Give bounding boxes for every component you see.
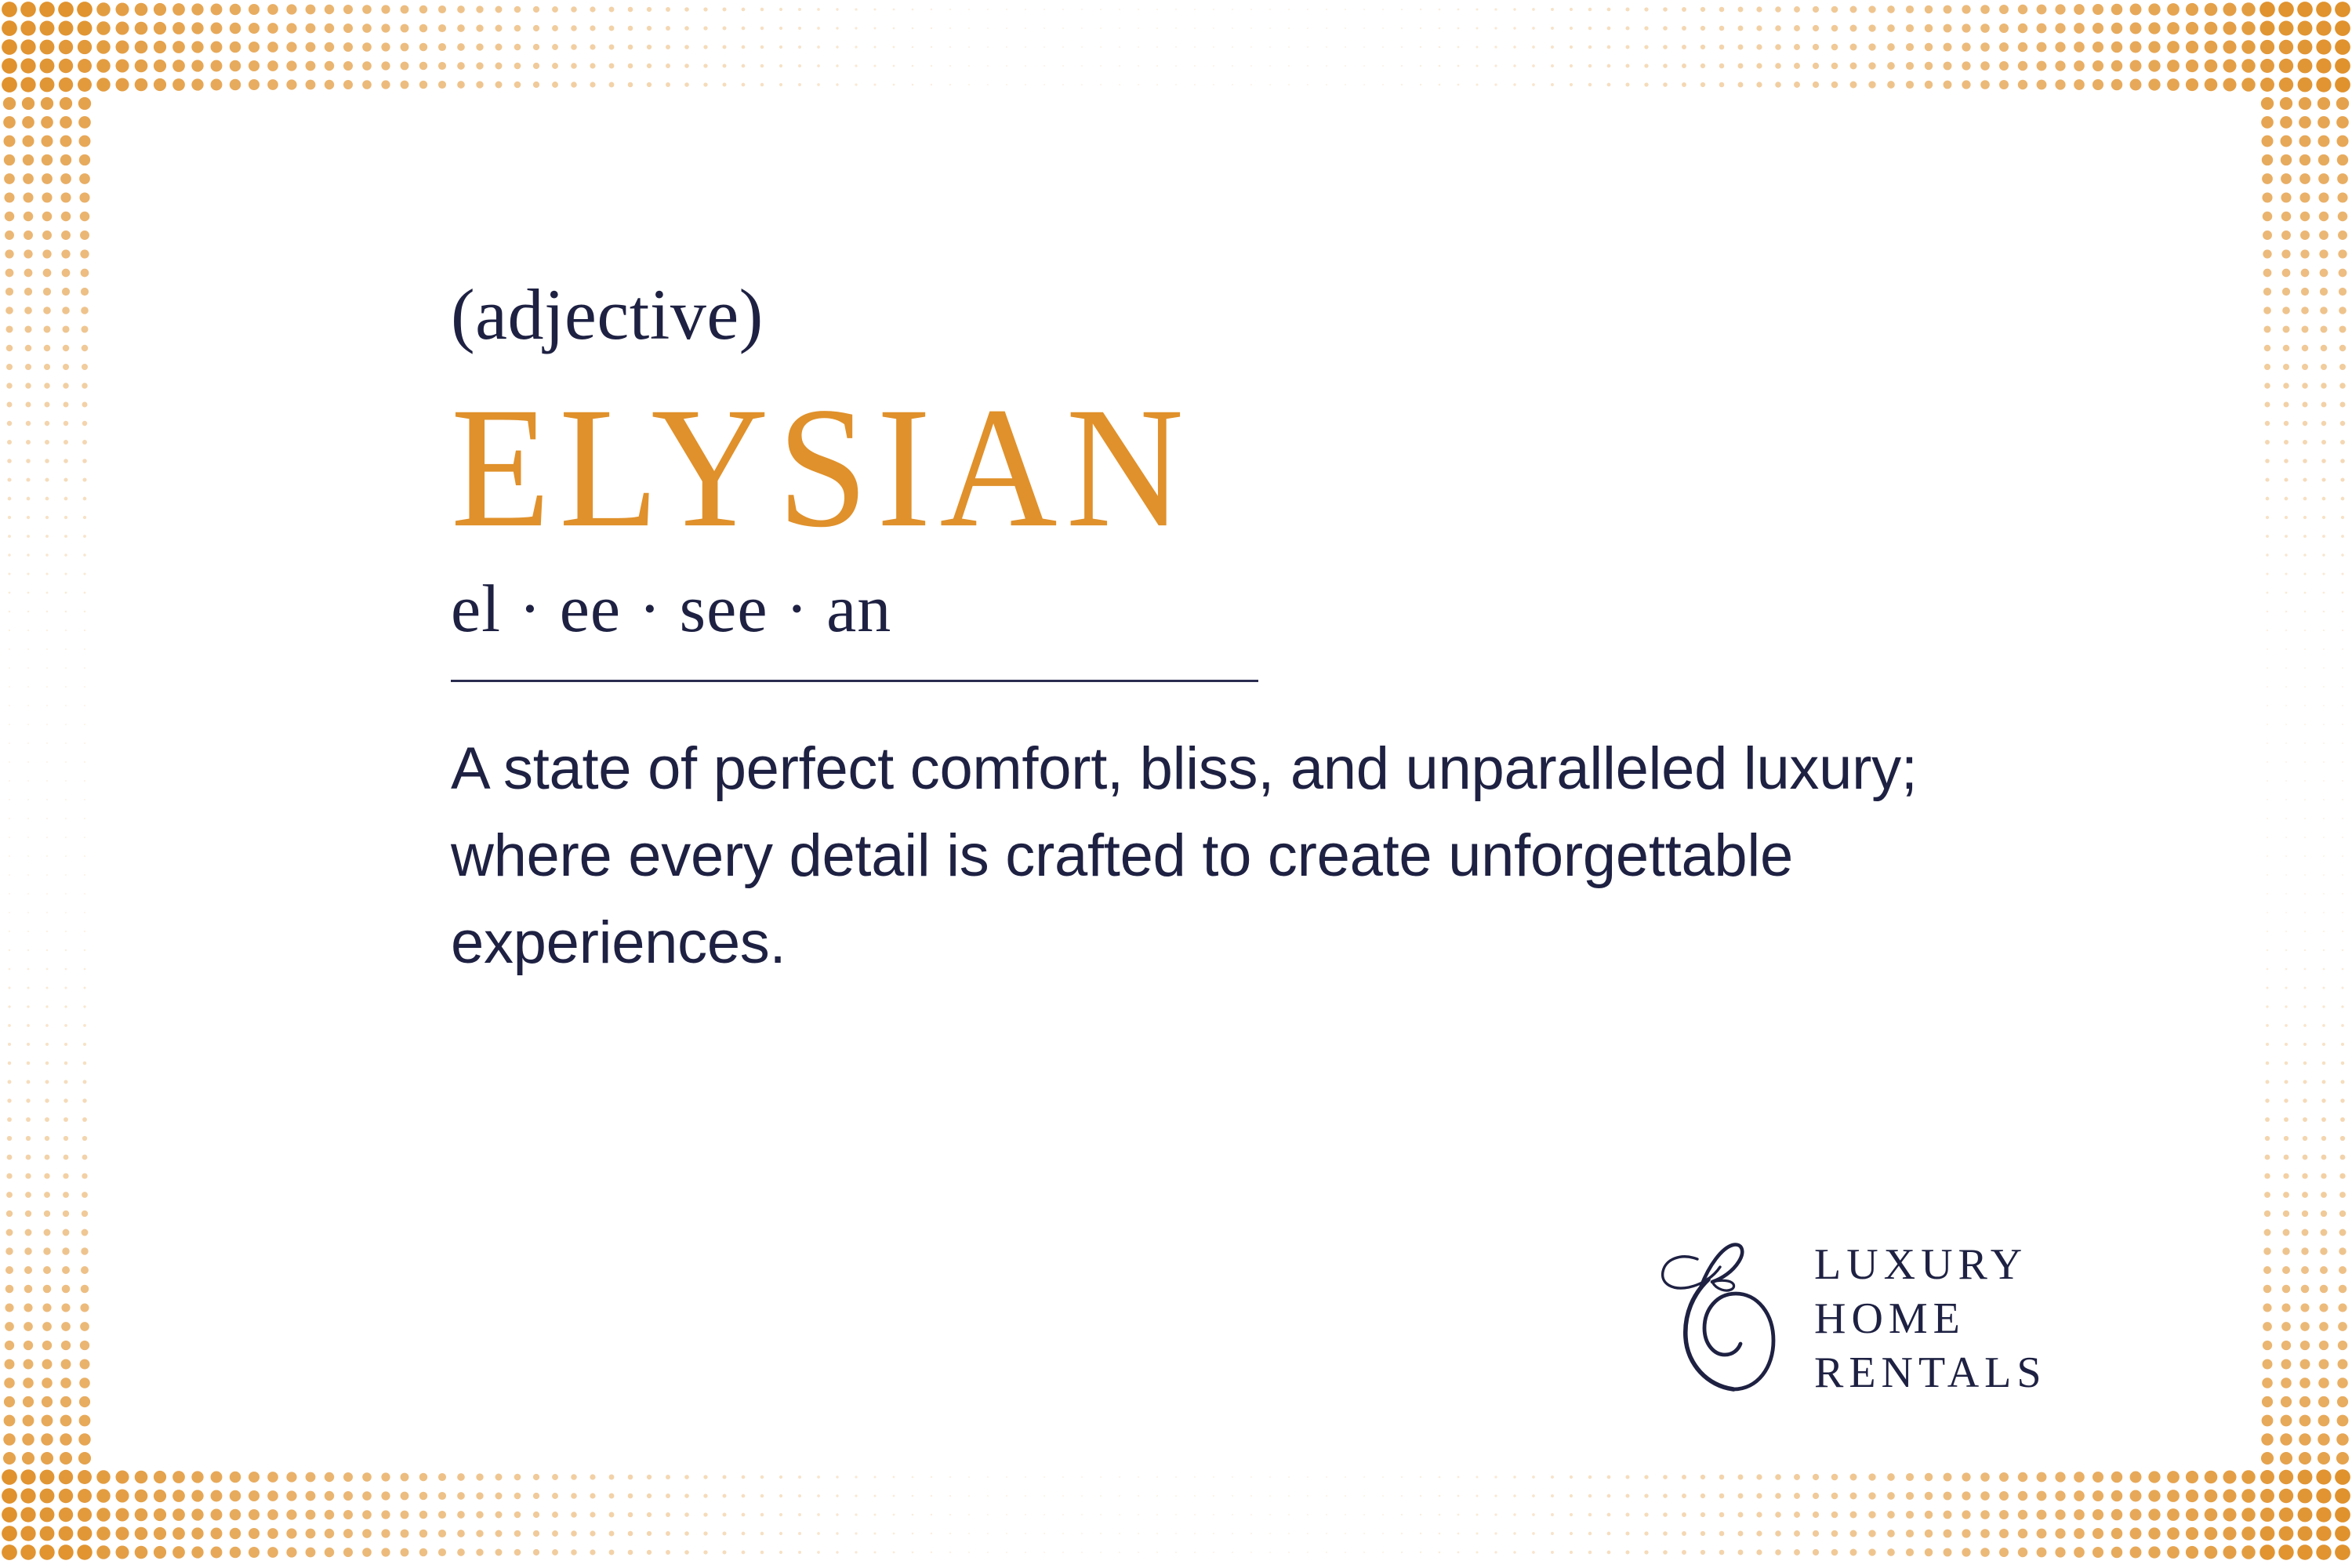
- logo-line-home: HOME: [1814, 1294, 2047, 1345]
- headword-title: ELYSIAN: [451, 385, 2136, 551]
- script-e-monogram-icon: [1654, 1239, 1788, 1399]
- divider-rule: [451, 680, 1258, 682]
- brand-definition-card: (adjective) ELYSIAN el · ee · see · an A…: [0, 0, 2352, 1568]
- logo-wordmark: LUXURY HOME RENTALS: [1814, 1240, 2047, 1399]
- part-of-speech-label: (adjective): [451, 278, 2136, 350]
- logo-line-luxury: LUXURY: [1814, 1240, 2047, 1290]
- pronunciation-text: el · ee · see · an: [451, 573, 2136, 644]
- logo-line-rentals: RENTALS: [1814, 1348, 2047, 1399]
- brand-logo: LUXURY HOME RENTALS: [1654, 1239, 2047, 1399]
- definition-entry: (adjective) ELYSIAN el · ee · see · an A…: [451, 278, 2136, 987]
- definition-text: A state of perfect comfort, bliss, and u…: [451, 726, 2066, 987]
